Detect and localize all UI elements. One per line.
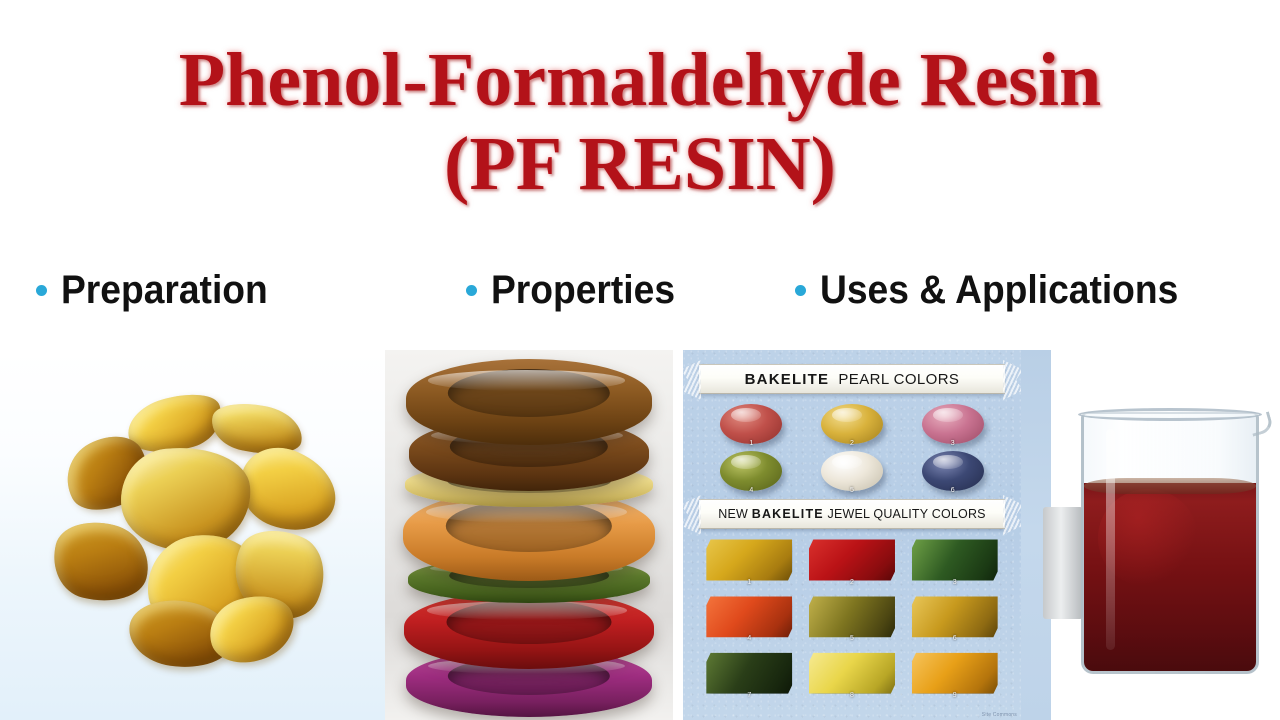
jewel-swatch — [706, 596, 792, 637]
jewel-swatch — [912, 540, 998, 581]
swatch-number: 8 — [850, 692, 854, 699]
card-watermark: Site Commons — [982, 712, 1017, 718]
pearl-swatch-cell: 6 — [902, 449, 1003, 496]
pearl-swatch-cell: 4 — [701, 449, 802, 496]
brand-bakelite: BAKELITE — [752, 507, 824, 521]
pearl-swatch — [720, 451, 782, 491]
swatch-number: 1 — [747, 579, 751, 586]
jewel-swatch-cell: 7 — [699, 649, 800, 704]
slide-root: Phenol-Formaldehyde Resin (PF RESIN) Pre… — [0, 0, 1280, 720]
beaker-background-object — [1043, 507, 1083, 619]
bullet-label: Properties — [491, 268, 675, 312]
resin-chunk-cluster — [43, 395, 343, 675]
card-banner-mid-suffix: JEWEL QUALITY COLORS — [828, 507, 986, 521]
card-banner-mid-text: NEW BAKELITE JEWEL QUALITY COLORS — [718, 507, 985, 521]
image-strip: BAKELITE PEARL COLORS 123456 NEW BAKELIT… — [0, 350, 1280, 720]
bakelite-bangle-stack-photo — [385, 350, 673, 720]
bakelite-colour-sample-card: BAKELITE PEARL COLORS 123456 NEW BAKELIT… — [683, 350, 1021, 720]
bullet-label: Uses & Applications — [820, 268, 1178, 312]
pearl-swatch-cell: 3 — [902, 402, 1003, 449]
card-banner-mid-prefix: NEW — [718, 507, 748, 521]
pearl-swatch — [720, 404, 782, 444]
swatch-number: 5 — [850, 635, 854, 642]
jewel-swatch — [912, 653, 998, 694]
beaker-liquid-surface — [1084, 478, 1256, 494]
jewel-swatch-cell: 9 — [904, 649, 1005, 704]
card-banner-jewel-colors: NEW BAKELITE JEWEL QUALITY COLORS — [699, 499, 1005, 529]
bakelite-bangle — [406, 359, 652, 445]
bullet-item-uses-applications[interactable]: Uses & Applications — [795, 268, 1205, 312]
bangle-stack — [403, 357, 655, 713]
swatch-number: 6 — [951, 487, 955, 494]
swatch-number: 6 — [953, 635, 957, 642]
swatch-number: 3 — [953, 579, 957, 586]
pearl-swatch — [821, 451, 883, 491]
bullet-label: Preparation — [61, 268, 268, 312]
bangle-opening — [446, 500, 612, 552]
bullet-dot-icon — [36, 285, 47, 296]
brand-bakelite: BAKELITE — [745, 371, 830, 388]
card-banner-top-text: BAKELITE PEARL COLORS — [745, 371, 960, 388]
bullet-item-preparation[interactable]: Preparation — [36, 268, 283, 312]
bangle-opening — [448, 369, 610, 417]
pearl-swatch — [922, 451, 984, 491]
swatch-number: 9 — [953, 692, 957, 699]
jewel-swatch-cell: 2 — [802, 536, 903, 591]
swatch-number: 2 — [850, 440, 854, 447]
jewel-swatch — [706, 653, 792, 694]
pearl-colour-swatch-grid: 123456 — [701, 402, 1003, 496]
bullet-item-properties[interactable]: Properties — [466, 268, 689, 312]
swatch-number: 4 — [747, 635, 751, 642]
swatch-number: 4 — [749, 487, 753, 494]
swatch-number: 5 — [850, 487, 854, 494]
bullet-dot-icon — [795, 285, 806, 296]
jewel-swatch — [809, 596, 895, 637]
swatch-number: 7 — [747, 692, 751, 699]
beaker-liquid-resin — [1084, 483, 1256, 671]
jewel-colour-swatch-grid: 123456789 — [699, 536, 1005, 704]
pearl-swatch-cell: 2 — [802, 402, 903, 449]
topic-bullet-row: Preparation Properties Uses & Applicatio… — [0, 262, 1280, 324]
card-banner-pearl-colors: BAKELITE PEARL COLORS — [699, 364, 1005, 394]
bullet-dot-icon — [466, 285, 477, 296]
page-title: Phenol-Formaldehyde Resin (PF RESIN) — [0, 38, 1280, 206]
jewel-swatch — [809, 540, 895, 581]
pearl-swatch-cell: 1 — [701, 402, 802, 449]
title-line-1: Phenol-Formaldehyde Resin — [0, 38, 1280, 122]
jewel-swatch-cell: 3 — [904, 536, 1005, 591]
card-banner-top-suffix: PEARL COLORS — [838, 371, 959, 388]
bangle-opening — [447, 600, 612, 644]
jewel-swatch — [912, 596, 998, 637]
beaker-rim — [1078, 408, 1262, 421]
title-line-2: (PF RESIN) — [0, 122, 1280, 206]
jewel-swatch-cell: 1 — [699, 536, 800, 591]
glass-beaker — [1081, 412, 1259, 674]
solid-pf-resin-crystals-photo — [0, 350, 385, 720]
jewel-swatch — [706, 540, 792, 581]
beaker-spout — [1248, 411, 1275, 436]
liquid-pf-resin-beaker-photo — [1021, 350, 1280, 720]
jewel-swatch-cell: 6 — [904, 593, 1005, 648]
pearl-swatch — [922, 404, 984, 444]
jewel-swatch-cell: 4 — [699, 593, 800, 648]
swatch-number: 2 — [850, 579, 854, 586]
jewel-swatch — [809, 653, 895, 694]
beaker-glass-body — [1081, 412, 1259, 674]
swatch-number: 3 — [951, 440, 955, 447]
pearl-swatch — [821, 404, 883, 444]
jewel-swatch-cell: 5 — [802, 593, 903, 648]
swatch-number: 1 — [749, 440, 753, 447]
jewel-swatch-cell: 8 — [802, 649, 903, 704]
pearl-swatch-cell: 5 — [802, 449, 903, 496]
